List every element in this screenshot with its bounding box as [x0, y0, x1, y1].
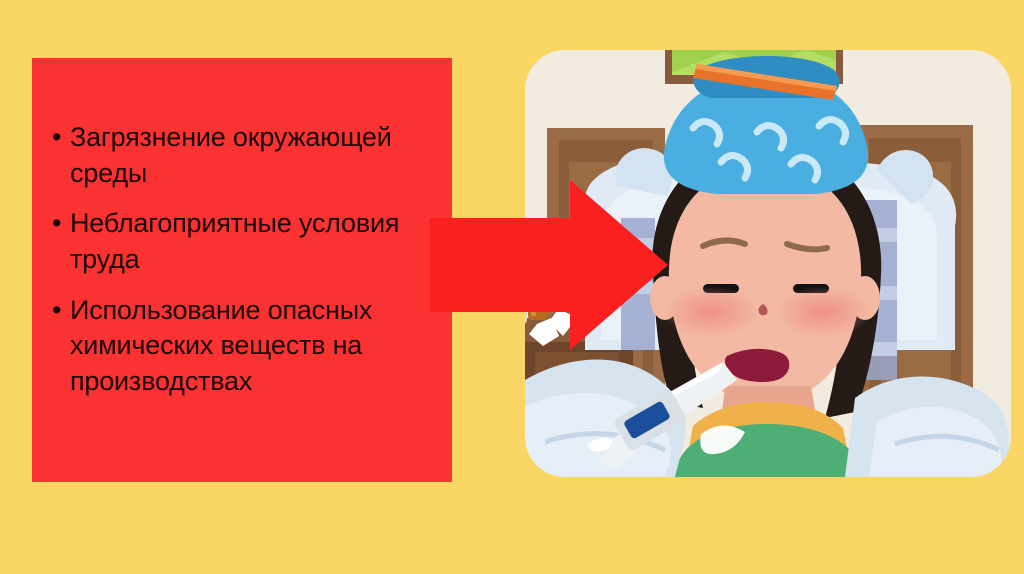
bullet-marker-icon: •	[52, 293, 61, 329]
cheek-right	[775, 286, 871, 338]
bullet-list: • Загрязнение окружающей среды • Неблаго…	[46, 120, 446, 414]
bullet-item: • Загрязнение окружающей среды	[46, 120, 446, 191]
bullet-text: Неблагоприятные условия труда	[70, 208, 399, 274]
bullet-marker-icon: •	[52, 120, 61, 156]
red-text-panel: • Загрязнение окружающей среды • Неблаго…	[32, 58, 452, 482]
bullet-marker-icon: •	[52, 206, 61, 242]
bullet-text: Использование опасных химических веществ…	[70, 295, 372, 396]
bullet-item: • Использование опасных химических вещес…	[46, 293, 446, 400]
red-right-arrow-icon	[430, 180, 680, 350]
arrow-svg	[430, 180, 680, 350]
ice-pack-icon	[664, 56, 868, 194]
slide-canvas: • Загрязнение окружающей среды • Неблаго…	[0, 0, 1024, 574]
bullet-text: Загрязнение окружающей среды	[70, 122, 392, 188]
bullet-item: • Неблагоприятные условия труда	[46, 206, 446, 277]
